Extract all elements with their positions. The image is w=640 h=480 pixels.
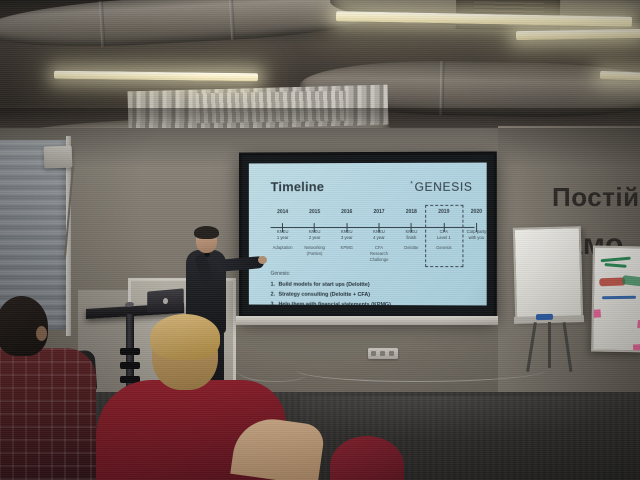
timeline-year: 2017: [362, 209, 396, 215]
timeline-tick: [476, 223, 477, 232]
flipchart-leg: [548, 322, 551, 368]
timeline-year: 2020: [459, 209, 486, 215]
wall-power-socket: [368, 348, 398, 359]
bullet-number: 3.: [271, 300, 279, 306]
stand-clamp: [120, 362, 140, 369]
bullet-text: Strategy consulting (Deloitte + CFA): [278, 292, 370, 298]
presentation-room-photo: Постійн само Timeline *GENESIS 2014KNEU1…: [0, 0, 640, 480]
timeline-tick: [346, 223, 347, 232]
timeline-node: 2017KNEU4 yearCFAResearchChallenge: [362, 209, 396, 264]
timeline-node: 2019CFALevel 1Genesis: [427, 209, 461, 251]
timeline-secondary-label: Genesis: [427, 245, 461, 251]
timeline-secondary-label: Networking(Parties): [298, 245, 332, 257]
timeline-year: 2019: [427, 209, 461, 215]
timeline-tick: [411, 223, 412, 232]
handwriting-stroke: [622, 275, 640, 286]
timeline-node: 2018KNEUfinishDeloitte: [394, 209, 428, 251]
handwriting-stroke: [604, 263, 626, 268]
genesis-logo: *GENESIS: [410, 180, 472, 194]
timeline-year: 2015: [298, 209, 332, 215]
timeline-secondary-label: Adaptation: [266, 245, 300, 251]
presenter-hand: [258, 256, 267, 264]
timeline-tick: [282, 223, 283, 232]
presenter-hair: [194, 226, 219, 239]
flipchart-blank: [513, 226, 583, 320]
timeline-node: 2014KNEU1 yearAdaptation: [266, 209, 300, 251]
timeline-secondary-label: KPMG: [330, 245, 364, 251]
timeline-tick: [314, 223, 315, 232]
fluorescent-light: [54, 71, 258, 81]
timeline-tick: [443, 223, 444, 232]
timeline-node: 2016KNEU3 yearKPMG: [330, 209, 364, 251]
bullet-item: 3.Help them with financial statements (K…: [271, 300, 473, 306]
logo-text: GENESIS: [415, 180, 473, 194]
timeline-tick: [378, 223, 379, 232]
slide-content: Timeline *GENESIS 2014KNEU1 yearAdaptati…: [249, 163, 487, 306]
marker-pen[interactable]: [536, 314, 553, 320]
logo-asterisk-icon: *: [410, 181, 413, 188]
timeline-year: 2014: [266, 209, 300, 215]
timeline-node: 2015KNEU2 yearNetworking(Parties): [298, 209, 332, 257]
timeline-node: 2020Corp partywith you: [459, 209, 486, 241]
stand-clamp: [120, 348, 140, 355]
timeline-secondary-label: Deloitte: [394, 245, 428, 251]
wall-speaker: [44, 146, 73, 169]
handwriting-stroke: [601, 257, 631, 263]
timeline-primary-label: Corp partywith you: [459, 229, 486, 241]
wall-lettering-line1: Постійн: [552, 182, 640, 213]
bullet-number: 2.: [271, 290, 279, 300]
bullet-number: 1.: [271, 280, 279, 290]
slide-title: Timeline: [271, 179, 325, 194]
bullet-text: Build models for start ups (Deloitte): [278, 282, 369, 288]
timeline-secondary-label: CFAResearchChallenge: [362, 245, 396, 263]
timeline-year: 2018: [394, 209, 428, 215]
ceiling: [0, 0, 640, 132]
timeline-chart: 2014KNEU1 yearAdaptation2015KNEU2 yearNe…: [267, 209, 477, 269]
bullet-list: Genesis: 1.Build models for start ups (D…: [271, 271, 473, 306]
sticky-note: [591, 309, 601, 318]
projector-screen[interactable]: Timeline *GENESIS 2014KNEU1 yearAdaptati…: [239, 151, 497, 318]
projector-screen-case: [236, 316, 498, 325]
bullet-text: Help them with financial statements (KPM…: [278, 302, 390, 306]
audience-left-ear: [36, 326, 47, 341]
bullet-item: 1.Build models for start ups (Deloitte): [271, 280, 473, 291]
handwriting-stroke: [602, 296, 636, 300]
bullet-heading: Genesis:: [271, 271, 473, 277]
fluorescent-light: [516, 29, 640, 40]
audience-left-body: [0, 348, 96, 480]
flipchart-with-notes: [591, 246, 640, 353]
sticky-note: [633, 344, 640, 352]
audience-center-hair: [150, 314, 220, 360]
timeline-year: 2016: [330, 209, 364, 215]
floor-highlight: [300, 396, 640, 440]
